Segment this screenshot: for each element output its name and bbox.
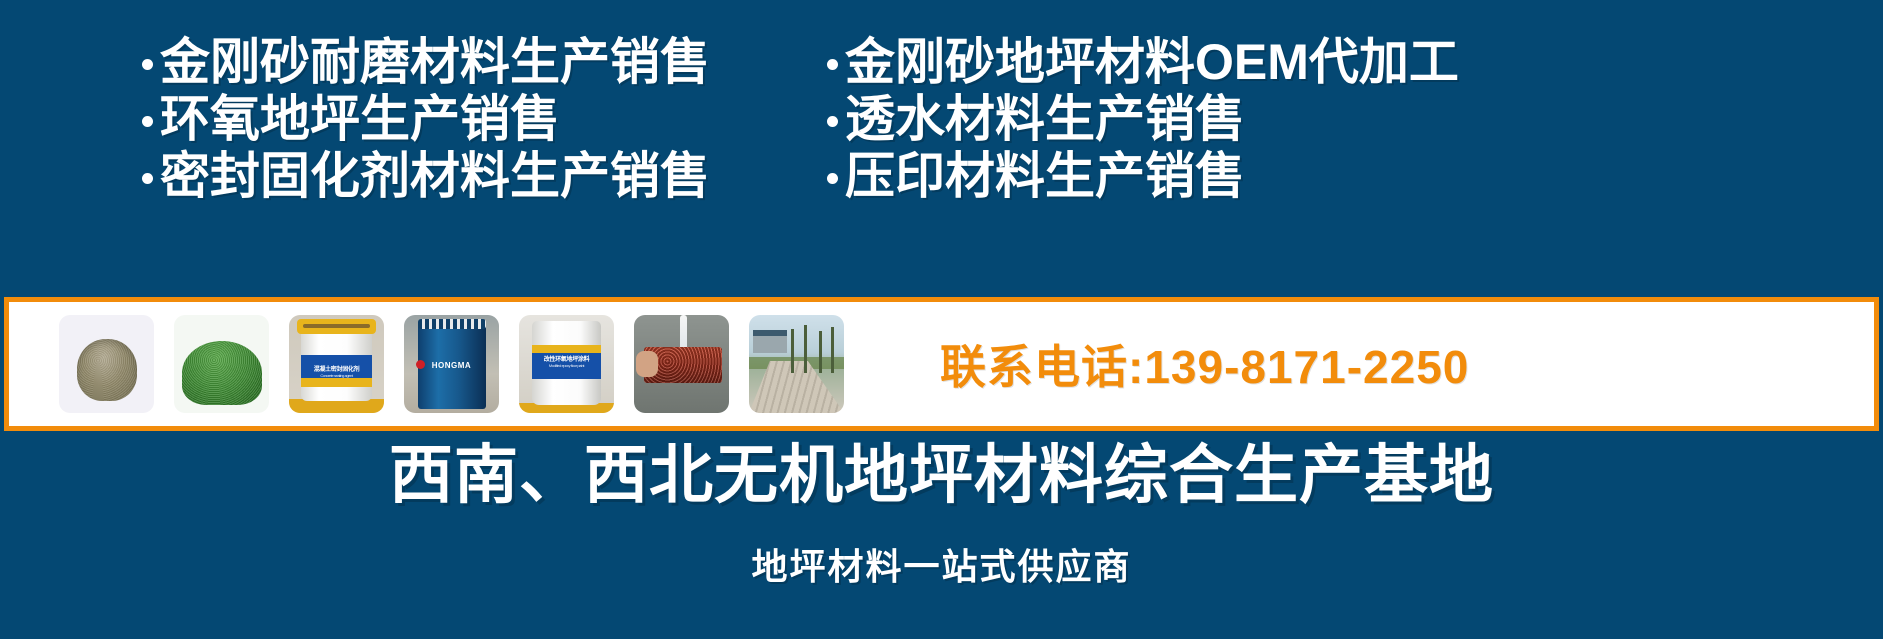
powder-heap-icon	[77, 339, 137, 401]
tree-icon	[819, 331, 822, 373]
product-strip: 混凝土密封固化剂 Concrete sealing agent HONGMA 改…	[4, 297, 1879, 431]
water-stream-icon	[680, 315, 687, 351]
pail-label: 改性环氧地坪涂料 Modified epoxy floor paint	[532, 345, 601, 379]
building-icon	[753, 335, 787, 353]
product-thumbnail-list: 混凝土密封固化剂 Concrete sealing agent HONGMA 改…	[59, 315, 844, 413]
bullet-dot-icon	[142, 116, 153, 127]
product-thumb-epoxy-floor-coating-pail: 改性环氧地坪涂料 Modified epoxy floor paint	[519, 315, 614, 413]
services-section: 金刚砂耐磨材料生产销售 环氧地坪生产销售 密封固化剂材料生产销售 金刚砂地坪材料…	[0, 0, 1883, 288]
drum-brand-text: HONGMA	[404, 361, 499, 370]
bullet-dot-icon	[827, 59, 838, 70]
bullet-dot-icon	[142, 173, 153, 184]
tree-icon	[791, 329, 794, 373]
service-item: 金刚砂耐磨材料生产销售	[142, 34, 710, 91]
service-label: 透水材料生产销售	[845, 91, 1245, 148]
service-label: 金刚砂耐磨材料生产销售	[160, 34, 710, 91]
service-item: 透水材料生产销售	[827, 91, 1459, 148]
product-thumb-red-permeable-concrete-slab	[634, 315, 729, 413]
product-thumb-concrete-sealer-pail: 混凝土密封固化剂 Concrete sealing agent	[289, 315, 384, 413]
pail-lid-icon	[297, 319, 376, 334]
pail-label-text: 混凝土密封固化剂 Concrete sealing agent	[301, 364, 372, 378]
service-label: 金刚砂地坪材料OEM代加工	[845, 34, 1459, 91]
drum-rim-icon	[418, 319, 486, 329]
pail-label-text: 改性环氧地坪涂料 Modified epoxy floor paint	[532, 354, 601, 368]
bullet-dot-icon	[142, 59, 153, 70]
contact-phone[interactable]: 联系电话:139-8171-2250	[940, 331, 1469, 397]
service-label: 密封固化剂材料生产销售	[160, 148, 710, 205]
product-thumb-green-floor-powder	[174, 315, 269, 413]
services-column-right: 金刚砂地坪材料OEM代加工 透水材料生产销售 压印材料生产销售	[827, 34, 1459, 205]
service-label: 压印材料生产销售	[845, 148, 1245, 205]
product-thumb-stamped-concrete-walkway	[749, 315, 844, 413]
footer-subline: 地坪材料一站式供应商	[0, 545, 1883, 589]
hand-icon	[636, 351, 658, 377]
service-item: 密封固化剂材料生产销售	[142, 148, 710, 205]
pallet-icon	[289, 399, 384, 413]
product-thumb-emery-abrasive-powder	[59, 315, 154, 413]
service-item: 金刚砂地坪材料OEM代加工	[827, 34, 1459, 91]
service-item: 压印材料生产销售	[827, 148, 1459, 205]
pail-label: 混凝土密封固化剂 Concrete sealing agent	[301, 355, 372, 387]
services-column-left: 金刚砂耐磨材料生产销售 环氧地坪生产销售 密封固化剂材料生产销售	[142, 34, 710, 205]
service-label: 环氧地坪生产销售	[160, 91, 560, 148]
footer-headline: 西南、西北无机地坪材料综合生产基地	[0, 438, 1883, 512]
service-item: 环氧地坪生产销售	[142, 91, 710, 148]
bullet-dot-icon	[827, 116, 838, 127]
tree-icon	[804, 325, 807, 373]
powder-heap-icon	[182, 341, 262, 405]
product-thumb-hongma-blue-drum: HONGMA	[404, 315, 499, 413]
bullet-dot-icon	[827, 173, 838, 184]
tree-icon	[831, 327, 834, 373]
